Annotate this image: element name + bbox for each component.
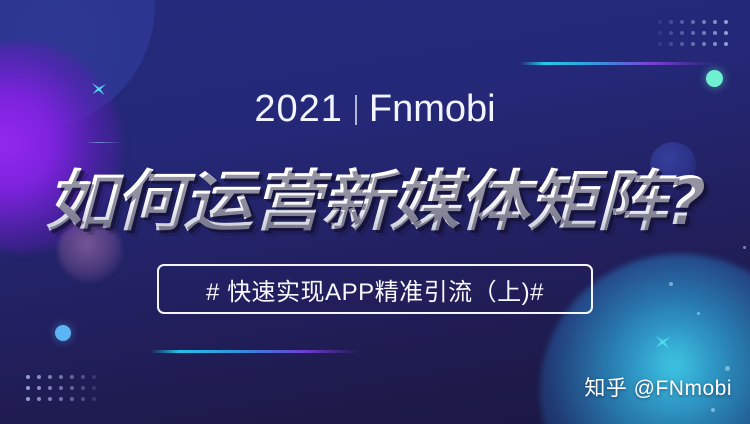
header-year: 2021 <box>254 88 343 130</box>
header-separator <box>355 95 357 125</box>
watermark: 知乎 @FNmobi <box>584 372 732 402</box>
header-brand-line: 2021Fnmobi <box>0 88 750 131</box>
header-brand-name: Fnmobi <box>369 88 496 130</box>
subtitle-box: # 快速实现APP精准引流（上)# <box>157 264 593 314</box>
promo-banner: 2021Fnmobi 如何运营新媒体矩阵? # 快速实现APP精准引流（上)# … <box>0 0 750 424</box>
main-title: 如何运营新媒体矩阵? <box>0 148 750 244</box>
subtitle-text: # 快速实现APP精准引流（上)# <box>206 272 544 307</box>
banner-content: 2021Fnmobi 如何运营新媒体矩阵? # 快速实现APP精准引流（上)# … <box>0 0 750 424</box>
